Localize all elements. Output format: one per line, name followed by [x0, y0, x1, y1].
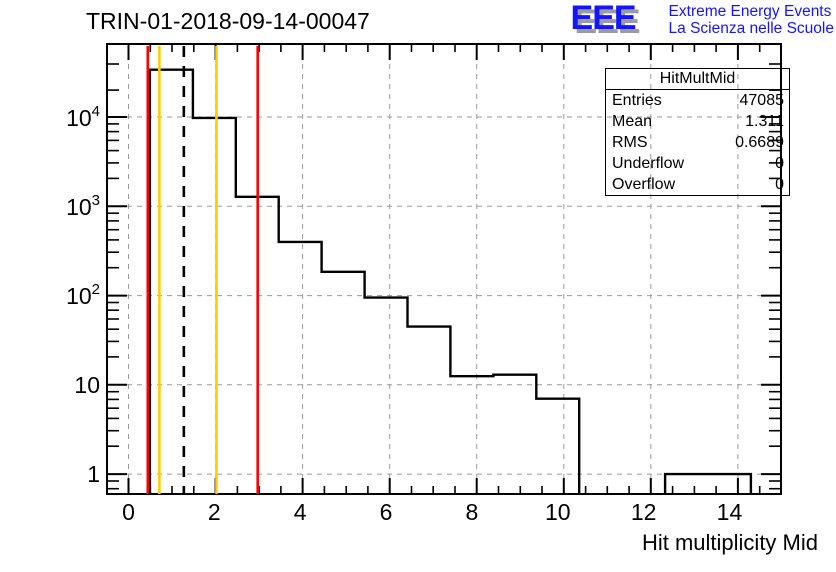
stats-row-label: Entries	[612, 90, 662, 111]
x-tick-label-12: 12	[631, 499, 657, 525]
x-tick-label-0: 0	[122, 499, 135, 525]
y-tick-label-100: 102	[66, 281, 100, 309]
y-tick-label-1: 1	[87, 461, 100, 487]
x-axis-title: Hit multiplicity Mid	[642, 530, 818, 556]
y-tick-label-10000: 104	[66, 103, 100, 131]
stats-box: HitMultMid Entries47085Mean1.311RMS0.668…	[605, 68, 790, 196]
x-tick-label-10: 10	[545, 499, 571, 525]
stats-row-value: 0	[775, 174, 784, 195]
stats-row-label: Overflow	[612, 174, 675, 195]
y-tick-label-10: 10	[74, 372, 100, 398]
stats-row-label: Mean	[612, 111, 652, 132]
stats-row-value: 47085	[740, 90, 785, 111]
stats-rows: Entries47085Mean1.311RMS0.6689Underflow0…	[606, 90, 789, 195]
stats-row-value: 1.311	[745, 111, 784, 132]
stats-row: Underflow0	[606, 153, 789, 174]
x-tick-label-8: 8	[466, 499, 479, 525]
x-tick-labels: 02468101214	[122, 499, 742, 525]
stats-row-label: RMS	[612, 132, 648, 153]
stats-row: RMS0.6689	[606, 132, 789, 153]
stats-row: Mean1.311	[606, 111, 789, 132]
x-tick-label-2: 2	[208, 499, 221, 525]
stats-row: Entries47085	[606, 90, 789, 111]
stats-title: HitMultMid	[606, 69, 789, 90]
x-tick-label-4: 4	[294, 499, 307, 525]
y-tick-labels: 1 10 102 103 104	[66, 103, 100, 487]
stats-row-value: 0.6689	[735, 132, 784, 153]
x-tick-label-14: 14	[717, 499, 743, 525]
plot-canvas: TRIN-01-2018-09-14-00047 EEE EEE Extreme…	[0, 0, 836, 572]
x-tick-label-6: 6	[380, 499, 393, 525]
stats-row: Overflow0	[606, 174, 789, 195]
stats-row-label: Underflow	[612, 153, 684, 174]
y-tick-label-1000: 103	[66, 192, 100, 220]
marker-vlines	[148, 46, 258, 494]
stats-row-value: 0	[775, 153, 784, 174]
